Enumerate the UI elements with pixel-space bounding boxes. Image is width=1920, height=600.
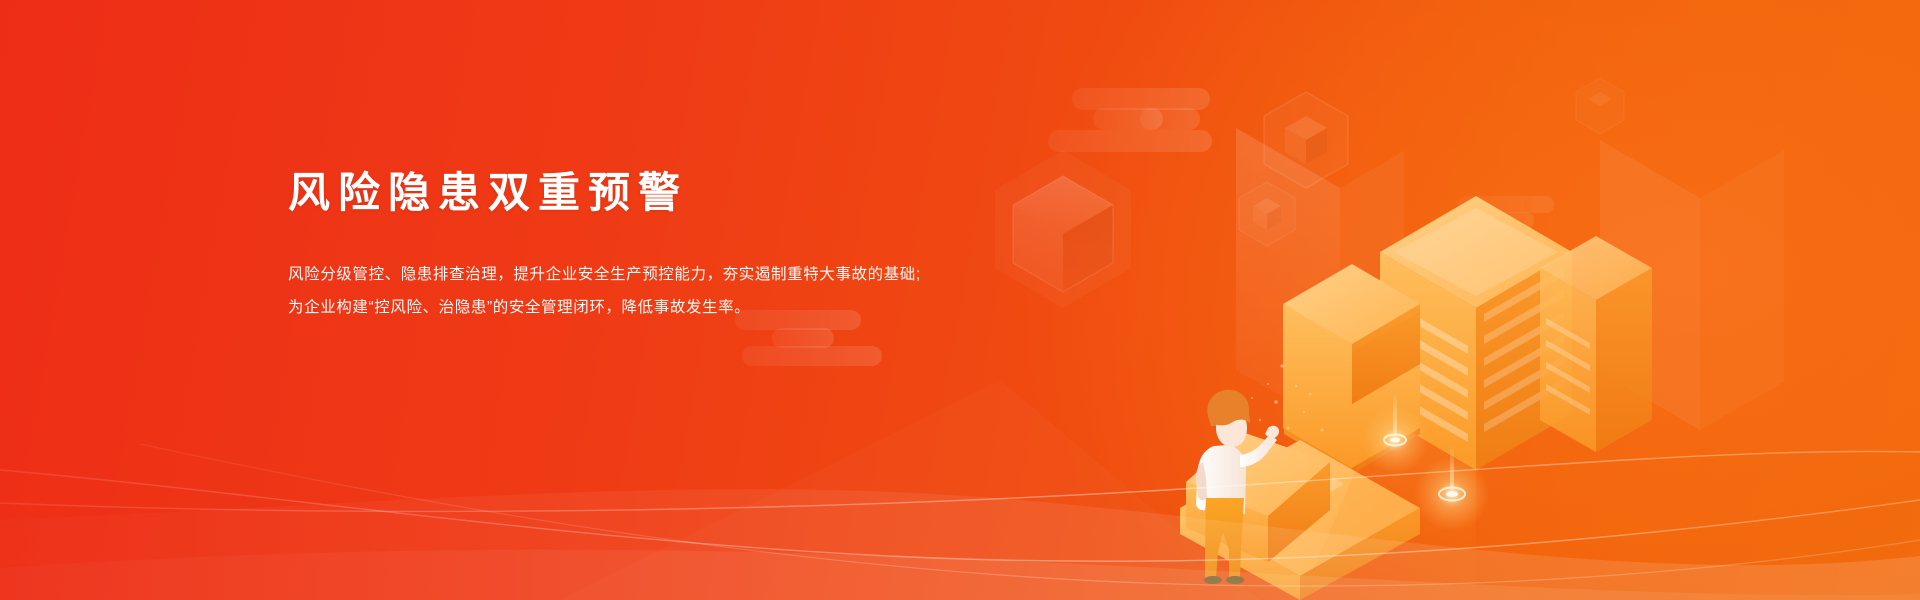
hero-banner: 风险隐患双重预警 风险分级管控、隐患排查治理，提升企业安全生产预控能力，夯实遏制…: [0, 0, 1920, 600]
page-title: 风险隐患双重预警: [288, 168, 1008, 218]
banner-subtitle: 风险分级管控、隐患排查治理，提升企业安全生产预控能力，夯实遏制重特大事故的基础;…: [288, 258, 1008, 324]
subtitle-line-2: 为企业构建“控风险、治隐患”的安全管理闭环，降低事故发生率。: [288, 291, 1008, 324]
subtitle-line-1: 风险分级管控、隐患排查治理，提升企业安全生产预控能力，夯实遏制重特大事故的基础;: [288, 258, 1008, 291]
banner-copy: 风险隐患双重预警 风险分级管控、隐患排查治理，提升企业安全生产预控能力，夯实遏制…: [288, 168, 1008, 324]
